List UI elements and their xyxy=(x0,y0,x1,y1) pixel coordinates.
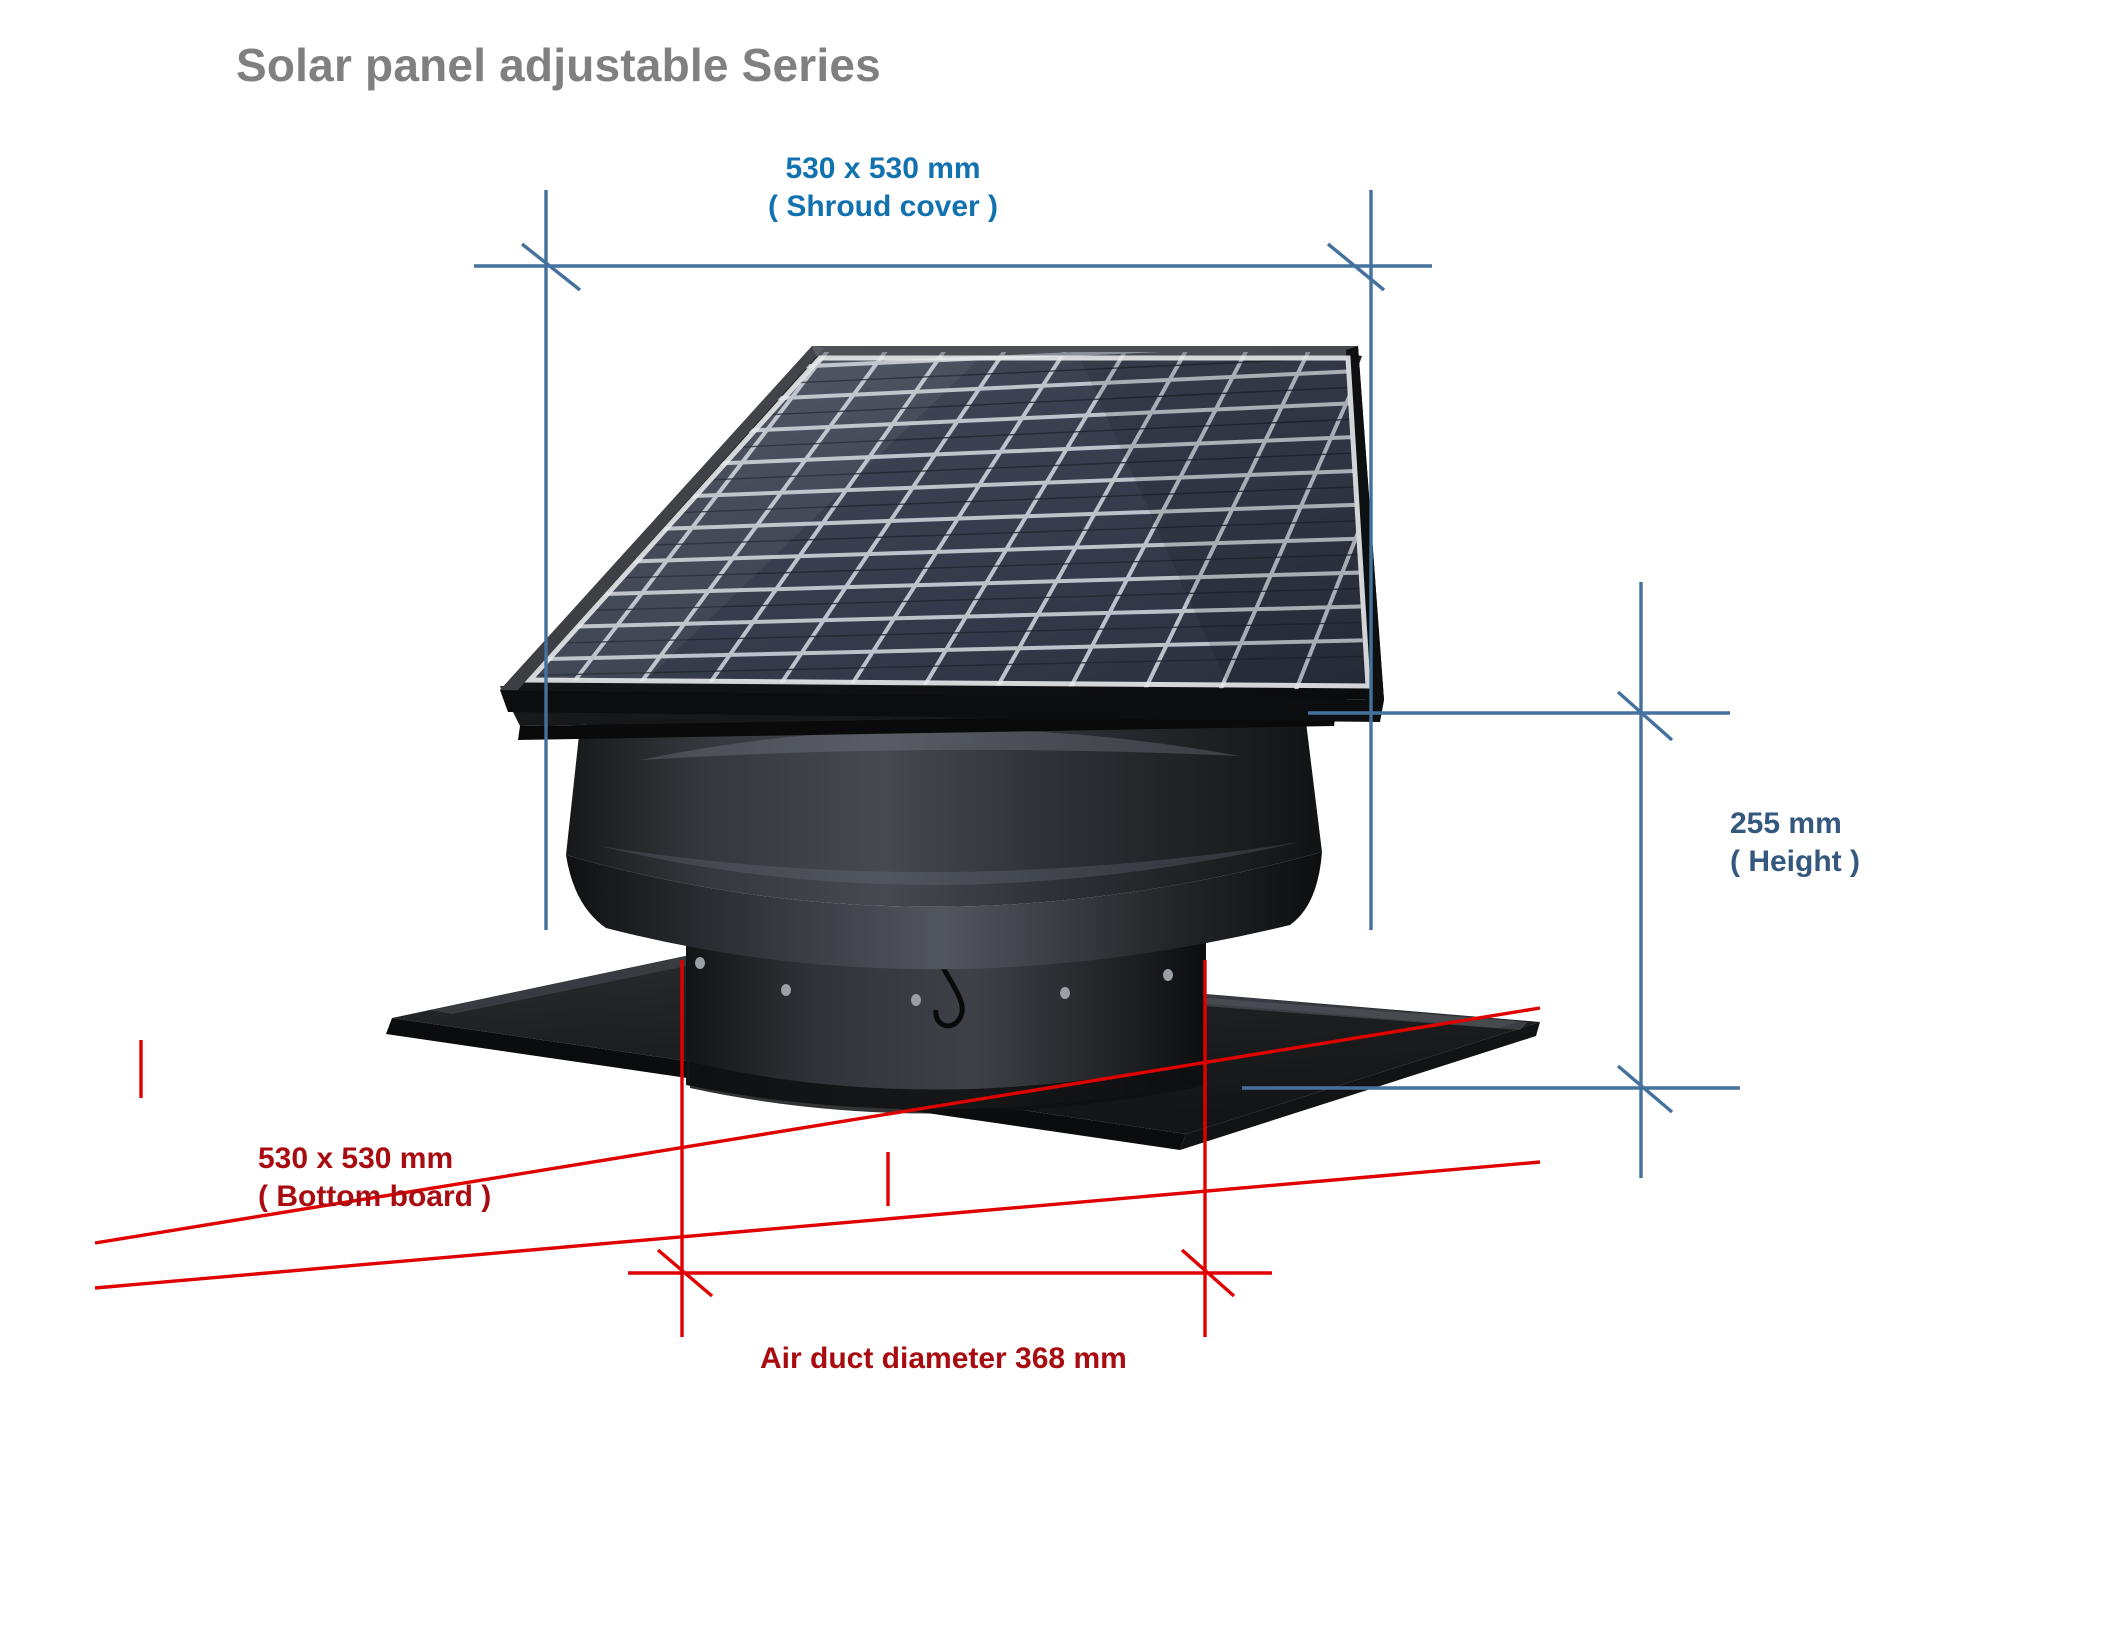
dim-value-bottom-board: 530 x 530 mm xyxy=(258,1140,491,1178)
dim-caption-bottom-board: ( Bottom board ) xyxy=(258,1178,491,1216)
dim-height xyxy=(1242,582,1740,1178)
dim-caption-height: ( Height ) xyxy=(1730,843,1860,881)
dim-label-air-duct: Air duct diameter 368 mm xyxy=(760,1340,1127,1378)
dim-shroud-cover xyxy=(474,190,1432,930)
dim-caption-shroud-cover: ( Shroud cover ) xyxy=(768,188,998,226)
dim-value-air-duct: Air duct diameter 368 mm xyxy=(760,1340,1127,1378)
dim-label-bottom-board: 530 x 530 mm ( Bottom board ) xyxy=(258,1140,491,1217)
dim-air-duct xyxy=(628,960,1272,1337)
dim-value-height: 255 mm xyxy=(1730,805,1860,843)
dim-value-shroud-cover: 530 x 530 mm xyxy=(768,150,998,188)
tick-top xyxy=(1618,692,1672,740)
diagram-canvas: Solar panel adjustable Series xyxy=(0,0,2120,1632)
dim-label-shroud-cover: 530 x 530 mm ( Shroud cover ) xyxy=(768,150,998,227)
dim-label-height: 255 mm ( Height ) xyxy=(1730,805,1860,882)
